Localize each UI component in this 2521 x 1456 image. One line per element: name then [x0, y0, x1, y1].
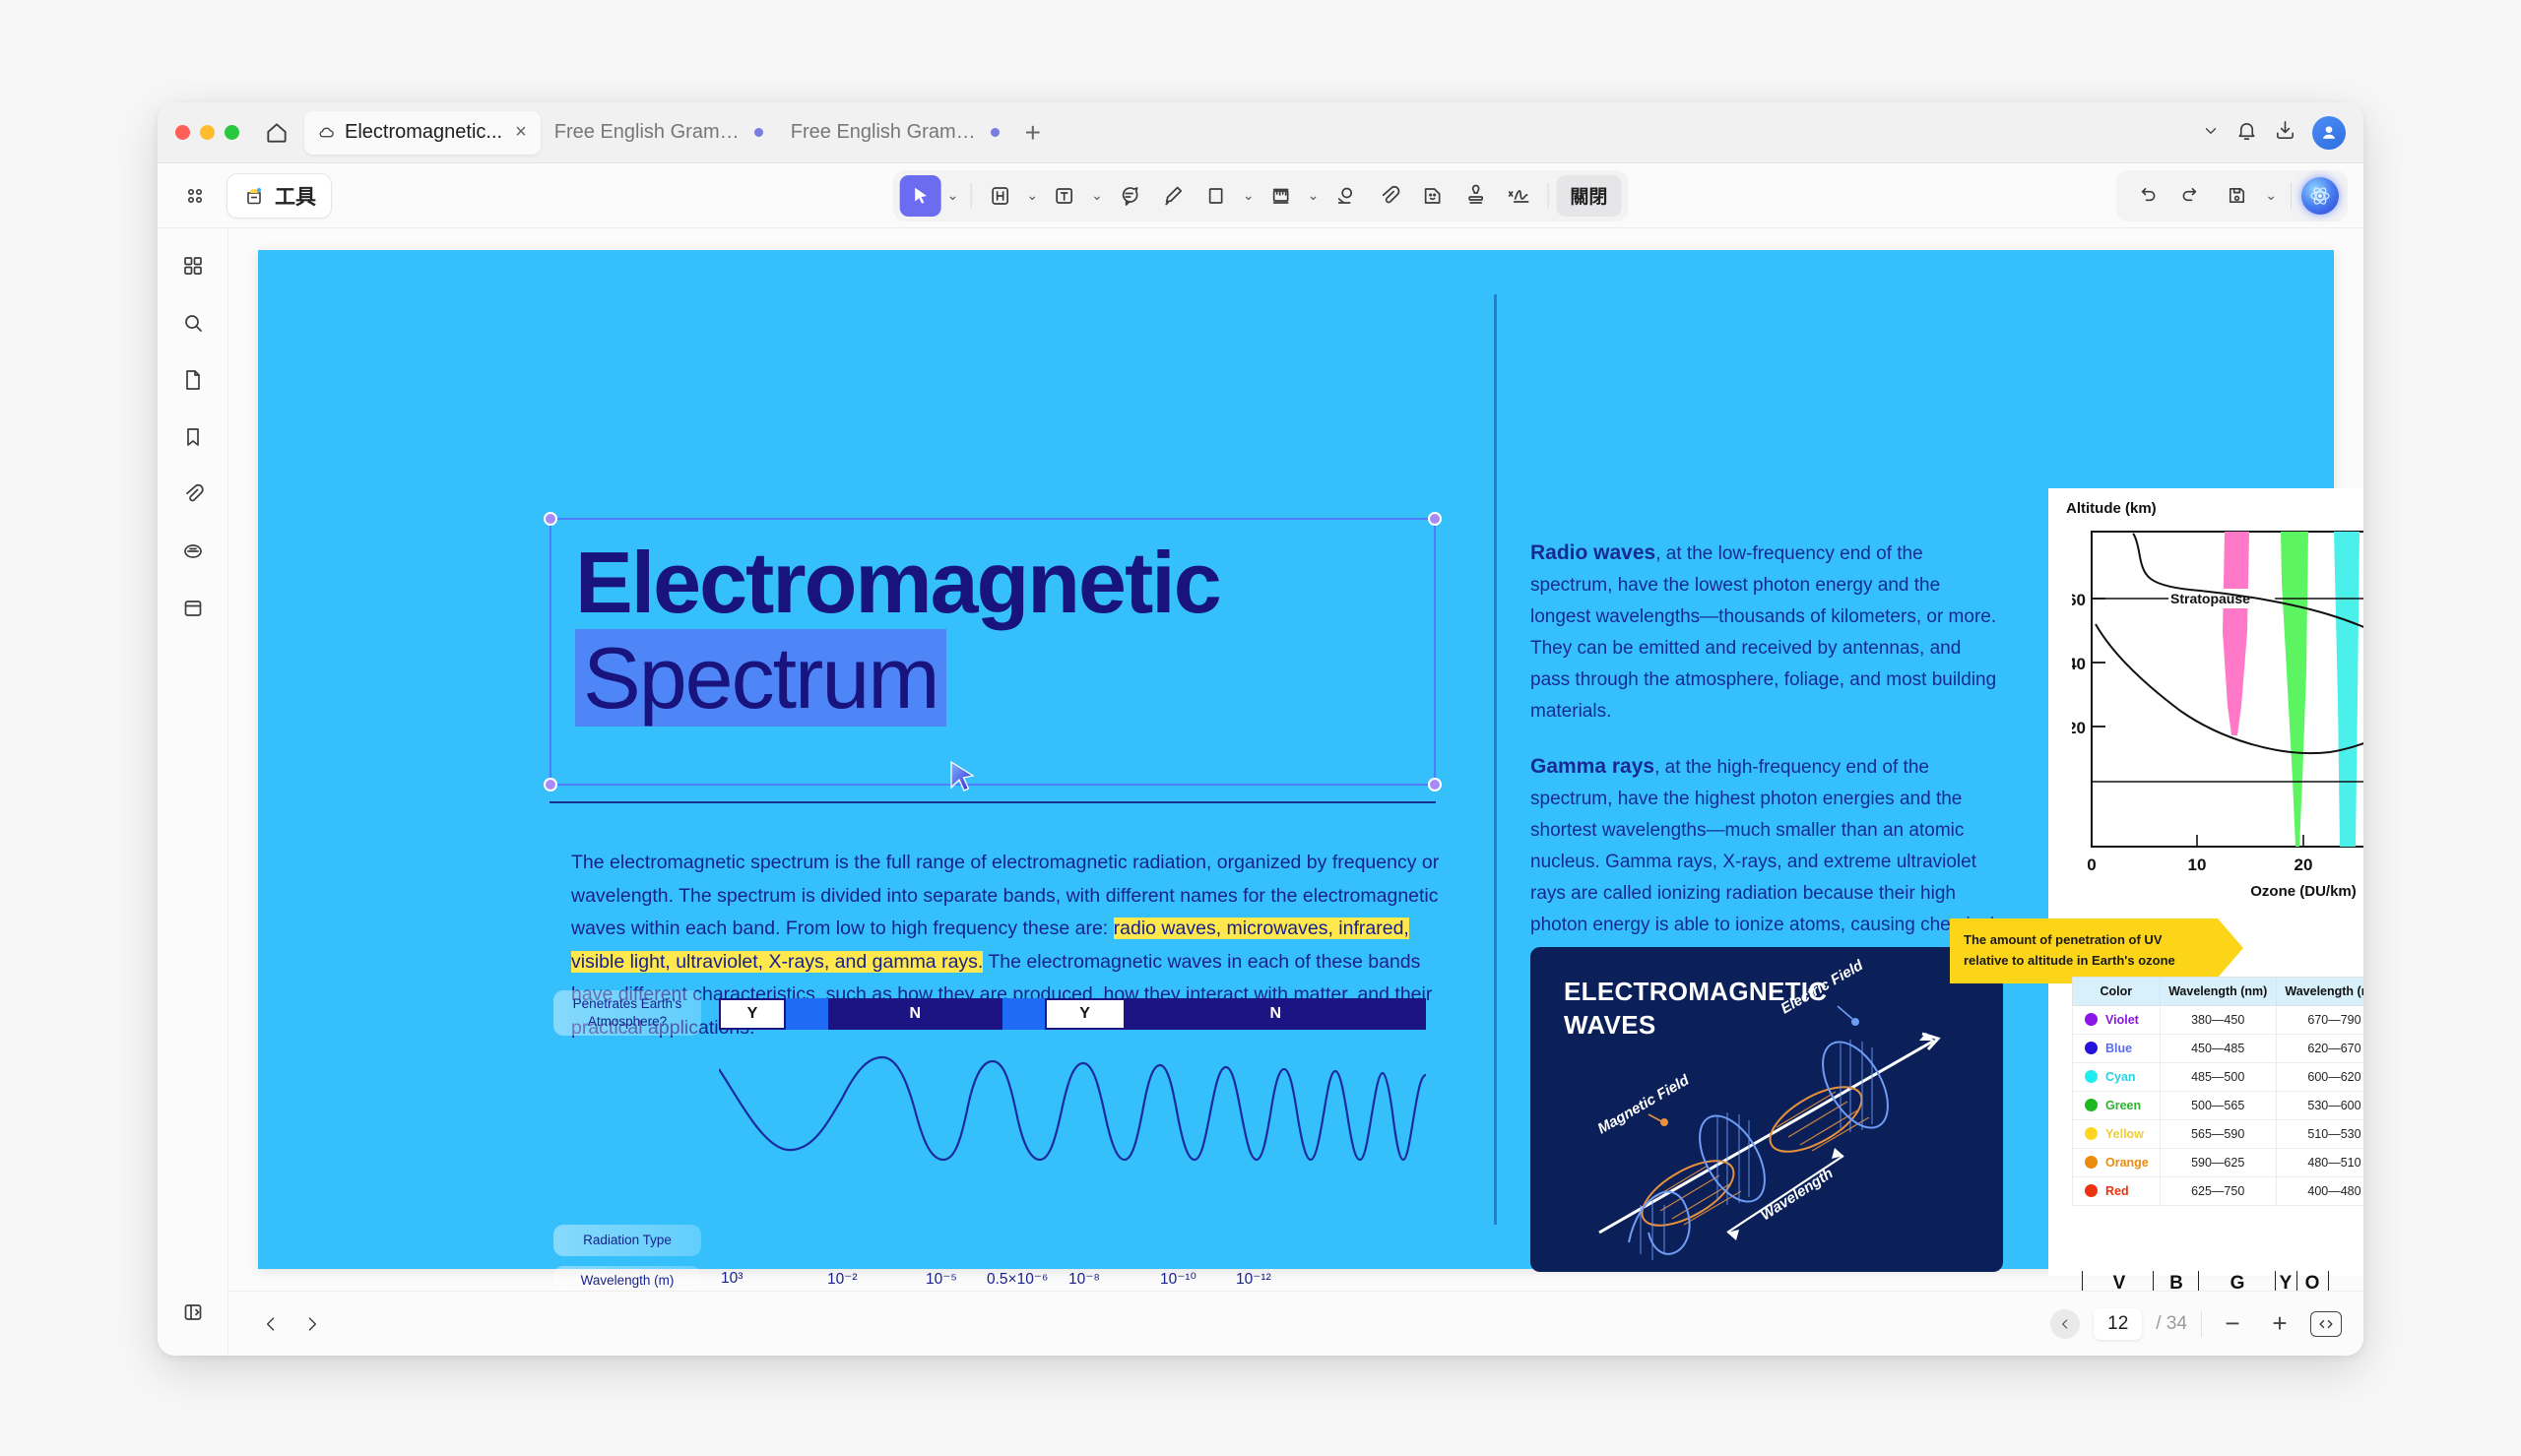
annotation-stratopause: Stratopause: [2170, 591, 2250, 606]
table-row: Cyan 485—500 600—620 2.48—2.56: [2073, 1063, 2364, 1092]
row-color-name: Green: [2073, 1092, 2161, 1120]
new-tab-button[interactable]: +: [1013, 113, 1053, 153]
row-color-name: Violet: [2073, 1006, 2161, 1035]
previous-page-button[interactable]: [250, 1303, 291, 1345]
em-waves-illustration: ELECTROMAGNETICWAVES: [1530, 947, 2003, 1272]
col-wavelength-2: Wavelength (nm): [2276, 978, 2363, 1006]
label-magnetic-field: Magnetic Field: [1595, 1071, 1693, 1137]
download-icon[interactable]: [2274, 119, 2296, 147]
cell-wl2: 600—620: [2276, 1063, 2363, 1092]
cell-wl1: 625—750: [2160, 1177, 2276, 1206]
row-color-name: Orange: [2073, 1149, 2161, 1177]
ozone-chart-xlabel: Ozone (DU/km): [2250, 883, 2357, 900]
cell-wl2: 670—790: [2276, 1006, 2363, 1035]
fit-width-button[interactable]: [2310, 1311, 2342, 1337]
atmosphere-segment: [786, 998, 828, 1030]
title-line-2: Spectrum: [575, 629, 946, 727]
color-swatch-icon: [2085, 1099, 2098, 1111]
vs-boundary: [2328, 1271, 2329, 1291]
avatar[interactable]: [2312, 116, 2346, 150]
redo-button[interactable]: [2170, 175, 2212, 217]
ozone-panel: Altitude (km) Stratopa: [2048, 488, 2363, 1276]
highlight-text-tool[interactable]: [979, 175, 1020, 217]
tab-electromagnetic[interactable]: Electromagnetic... ×: [304, 111, 541, 155]
cell-wl1: 500—565: [2160, 1092, 2276, 1120]
stamp-tool[interactable]: [1454, 175, 1496, 217]
cell-wl1: 380—450: [2160, 1006, 2276, 1035]
resize-handle-top-left[interactable]: [544, 512, 557, 526]
chevron-down-icon[interactable]: ⌄: [1087, 187, 1107, 204]
wave-illustration: [719, 1040, 1426, 1192]
tab-grammar-1[interactable]: Free English Gramm...: [541, 111, 777, 155]
home-icon[interactable]: [257, 113, 296, 153]
label-radiation-type: Radiation Type: [553, 1225, 701, 1256]
grid-view-icon[interactable]: [173, 174, 217, 218]
gamma-rays-heading: Gamma rays: [1530, 755, 1654, 778]
title-underline: [549, 801, 1436, 803]
x-tick-0: 0: [2087, 855, 2096, 874]
y-tick-60: 60: [2072, 591, 2086, 609]
sticker-tool[interactable]: [1411, 175, 1453, 217]
tab-bar: Electromagnetic... × Free English Gramm.…: [158, 102, 2363, 163]
resize-handle-bottom-left[interactable]: [544, 778, 557, 791]
chevron-down-icon[interactable]: ⌄: [1022, 187, 1042, 204]
band-wavelength: 10³: [721, 1270, 743, 1288]
current-page-input[interactable]: 12: [2094, 1308, 2142, 1340]
title-line-1: Electromagnetic: [575, 534, 1220, 631]
cell-wl2: 400—480: [2276, 1177, 2363, 1206]
resize-handle-bottom-right[interactable]: [1428, 778, 1442, 791]
atmosphere-segment: Y: [719, 998, 786, 1030]
color-swatch-icon: [2085, 1042, 2098, 1054]
notifications-icon[interactable]: [2235, 119, 2258, 147]
table-row: Green 500—565 530—600 2.19—2.48: [2073, 1092, 2364, 1120]
atmosphere-segment: Y: [1045, 998, 1126, 1030]
vs-letter-o: O: [2305, 1273, 2320, 1291]
sidebar-item-attachment[interactable]: [171, 473, 215, 516]
left-sidebar: [158, 228, 228, 1356]
color-swatch-icon: [2085, 1184, 2098, 1197]
window-controls[interactable]: [175, 125, 239, 140]
atmosphere-segment: N: [1126, 998, 1426, 1030]
label-penetrates-atmosphere: Penetrates Earth's Atmosphere?: [553, 990, 701, 1036]
cell-wl2: 530—600: [2276, 1092, 2363, 1120]
col-wavelength-1: Wavelength (nm): [2160, 978, 2276, 1006]
attachment-tool[interactable]: [1368, 175, 1409, 217]
cell-wl2: 480—510: [2276, 1149, 2363, 1177]
chevron-down-icon[interactable]: [2202, 122, 2220, 144]
sidebar-item-annotations[interactable]: [171, 530, 215, 573]
table-row: Yellow 565—590 510—530 2.10—2.19: [2073, 1120, 2364, 1149]
vs-letter-v: V: [2113, 1273, 2126, 1291]
row-color-name: Yellow: [2073, 1120, 2161, 1149]
vs-boundary: [2153, 1271, 2154, 1291]
band-wavelength: 10⁻²: [827, 1270, 858, 1289]
radio-waves-paragraph: Radio waves, at the low-frequency end of…: [1530, 536, 2003, 728]
tab-grammar-2[interactable]: Free English Gramm...: [777, 111, 1013, 155]
band-wavelength: 10⁻¹²: [1236, 1270, 1271, 1289]
radio-waves-body: , at the low-frequency end of the spectr…: [1530, 543, 1996, 722]
row-color-name: Cyan: [2073, 1063, 2161, 1092]
app-window: Electromagnetic... × Free English Gramm.…: [158, 102, 2363, 1356]
page-step-back-button[interactable]: [2050, 1309, 2080, 1339]
row-color-name: Red: [2073, 1177, 2161, 1206]
save-button[interactable]: [2216, 175, 2257, 217]
cell-wl1: 485—500: [2160, 1063, 2276, 1092]
minimize-window-button[interactable]: [200, 125, 215, 140]
color-swatch-icon: [2085, 1013, 2098, 1026]
cell-wl2: 510—530: [2276, 1120, 2363, 1149]
sidebar-item-bookmark[interactable]: [171, 415, 215, 459]
sidebar-item-thumbnails[interactable]: [171, 244, 215, 287]
chevron-down-icon[interactable]: ⌄: [2261, 187, 2281, 204]
chevron-down-icon[interactable]: ⌄: [1239, 187, 1259, 204]
page-title: Electromagnetic Spectrum: [575, 536, 1220, 727]
label-wavelength: Wavelength: [1758, 1165, 1837, 1224]
ozone-chart-ylabel: Altitude (km): [2066, 500, 2157, 517]
band-wavelength: 10⁻¹⁰: [1160, 1270, 1196, 1289]
main-toolbar: 工具 ⌄ ⌄ ⌄ ⌄: [158, 163, 2363, 228]
chevron-down-icon[interactable]: ⌄: [1304, 187, 1324, 204]
close-annotation-button[interactable]: 關閉: [1556, 175, 1621, 217]
signature-tool[interactable]: [1498, 175, 1539, 217]
cell-wl2: 620—670: [2276, 1035, 2363, 1063]
resize-handle-top-right[interactable]: [1428, 512, 1442, 526]
divider: [2201, 1311, 2202, 1337]
ruler-tool[interactable]: [1260, 175, 1302, 217]
band-wavelength: 0.5×10⁻⁶: [987, 1270, 1048, 1289]
history-toolbar: ⌄: [2116, 170, 2348, 222]
row-color-name: Blue: [2073, 1035, 2161, 1063]
atmosphere-bar: Y N Y N: [719, 998, 1426, 1030]
pen-tool[interactable]: [1152, 175, 1194, 217]
chevron-down-icon[interactable]: ⌄: [943, 187, 963, 204]
x-tick-10: 10: [2188, 855, 2207, 874]
text-box-tool[interactable]: [1044, 175, 1085, 217]
label-wavelength: Wavelength (m): [553, 1266, 701, 1291]
comment-tool[interactable]: [1109, 175, 1150, 217]
zoom-out-button[interactable]: −: [2216, 1307, 2249, 1341]
divider: [970, 183, 971, 209]
ozone-chart: Stratopause Tropopause 60: [2072, 524, 2363, 918]
color-swatch-icon: [2085, 1127, 2098, 1140]
color-swatch-icon: [2085, 1156, 2098, 1169]
mouse-cursor-icon: [949, 760, 983, 804]
table-row: Violet 380—450 670—790 2.75—3.26: [2073, 1006, 2364, 1035]
y-tick-40: 40: [2072, 655, 2086, 673]
tools-label: 工具: [275, 181, 316, 211]
band-wavelength: 10⁻⁸: [1068, 1270, 1100, 1289]
sidebar-item-search[interactable]: [171, 301, 215, 345]
total-pages-label: / 34: [2156, 1313, 2187, 1335]
vs-boundary: [2082, 1271, 2083, 1291]
color-swatch-icon: [2085, 1070, 2098, 1083]
vs-boundary: [2198, 1271, 2199, 1291]
shape-tool[interactable]: [1196, 175, 1237, 217]
table-row: Blue 450—485 620—670 2.56—2.75: [2073, 1035, 2364, 1063]
table-row: Red 625—750 400—480 1.65—1.98: [2073, 1177, 2364, 1206]
visible-color-table: Color Wavelength (nm) Wavelength (nm) Ph…: [2072, 977, 2363, 1206]
cloud-icon: [318, 124, 336, 142]
spectrum-diagram: Penetrates Earth's Atmosphere? Y N Y N: [553, 996, 1440, 1291]
label-electric-field: Electric Field: [1778, 957, 1867, 1018]
maximize-window-button[interactable]: [225, 125, 239, 140]
next-page-button[interactable]: [291, 1303, 333, 1345]
vs-letter-y: Y: [2280, 1273, 2293, 1291]
status-bar: 12 / 34 − +: [228, 1291, 2363, 1356]
select-tool[interactable]: [900, 175, 941, 217]
band-wavelength: 10⁻⁵: [926, 1270, 957, 1289]
vs-boundary: [2275, 1271, 2276, 1291]
uv-penetration-callout[interactable]: The amount of penetration of UV relative…: [1950, 918, 2218, 983]
cell-wl1: 565—590: [2160, 1120, 2276, 1149]
divider: [2291, 183, 2292, 209]
col-color: Color: [2073, 978, 2161, 1006]
tab-title: Electromagnetic...: [345, 121, 502, 144]
ai-assistant-button[interactable]: [2301, 177, 2339, 215]
atmosphere-segment: [1002, 998, 1045, 1030]
annotation-toolbar: ⌄ ⌄ ⌄ ⌄ ⌄: [893, 170, 1629, 222]
toolbox-icon: [242, 184, 266, 208]
zoom-in-button[interactable]: +: [2263, 1307, 2296, 1341]
undo-button[interactable]: [2125, 175, 2166, 217]
close-window-button[interactable]: [175, 125, 190, 140]
vs-letter-g: G: [2230, 1273, 2245, 1291]
sidebar-item-pages[interactable]: [171, 358, 215, 402]
table-row: Orange 590—625 480—510 1.98—2.10: [2073, 1149, 2364, 1177]
tab-title: Free English Gramm...: [791, 121, 982, 144]
sidebar-panel-toggle[interactable]: [171, 1291, 215, 1334]
document-page[interactable]: Electromagnetic Spectrum The electromagn…: [258, 250, 2334, 1269]
atmosphere-segment: N: [828, 998, 1003, 1030]
divider: [1547, 183, 1548, 209]
radio-waves-heading: Radio waves: [1530, 541, 1655, 564]
vs-letter-b: B: [2169, 1273, 2183, 1291]
tools-button[interactable]: 工具: [226, 173, 332, 219]
document-viewer: Electromagnetic Spectrum The electromagn…: [228, 228, 2363, 1356]
document-canvas[interactable]: Electromagnetic Spectrum The electromagn…: [228, 228, 2363, 1291]
eraser-tool[interactable]: [1325, 175, 1366, 217]
close-icon[interactable]: ×: [515, 121, 527, 144]
modified-dot-icon: [991, 128, 1000, 137]
x-tick-20: 20: [2295, 855, 2313, 874]
cell-wl1: 450—485: [2160, 1035, 2276, 1063]
column-divider: [1494, 294, 1497, 1225]
y-tick-20: 20: [2072, 719, 2086, 737]
table-header-row: Color Wavelength (nm) Wavelength (nm) Ph…: [2073, 978, 2364, 1006]
sidebar-item-layers[interactable]: [171, 587, 215, 630]
modified-dot-icon: [754, 128, 763, 137]
vs-boundary: [2296, 1271, 2297, 1291]
cell-wl1: 590—625: [2160, 1149, 2276, 1177]
tab-title: Free English Gramm...: [554, 121, 745, 144]
